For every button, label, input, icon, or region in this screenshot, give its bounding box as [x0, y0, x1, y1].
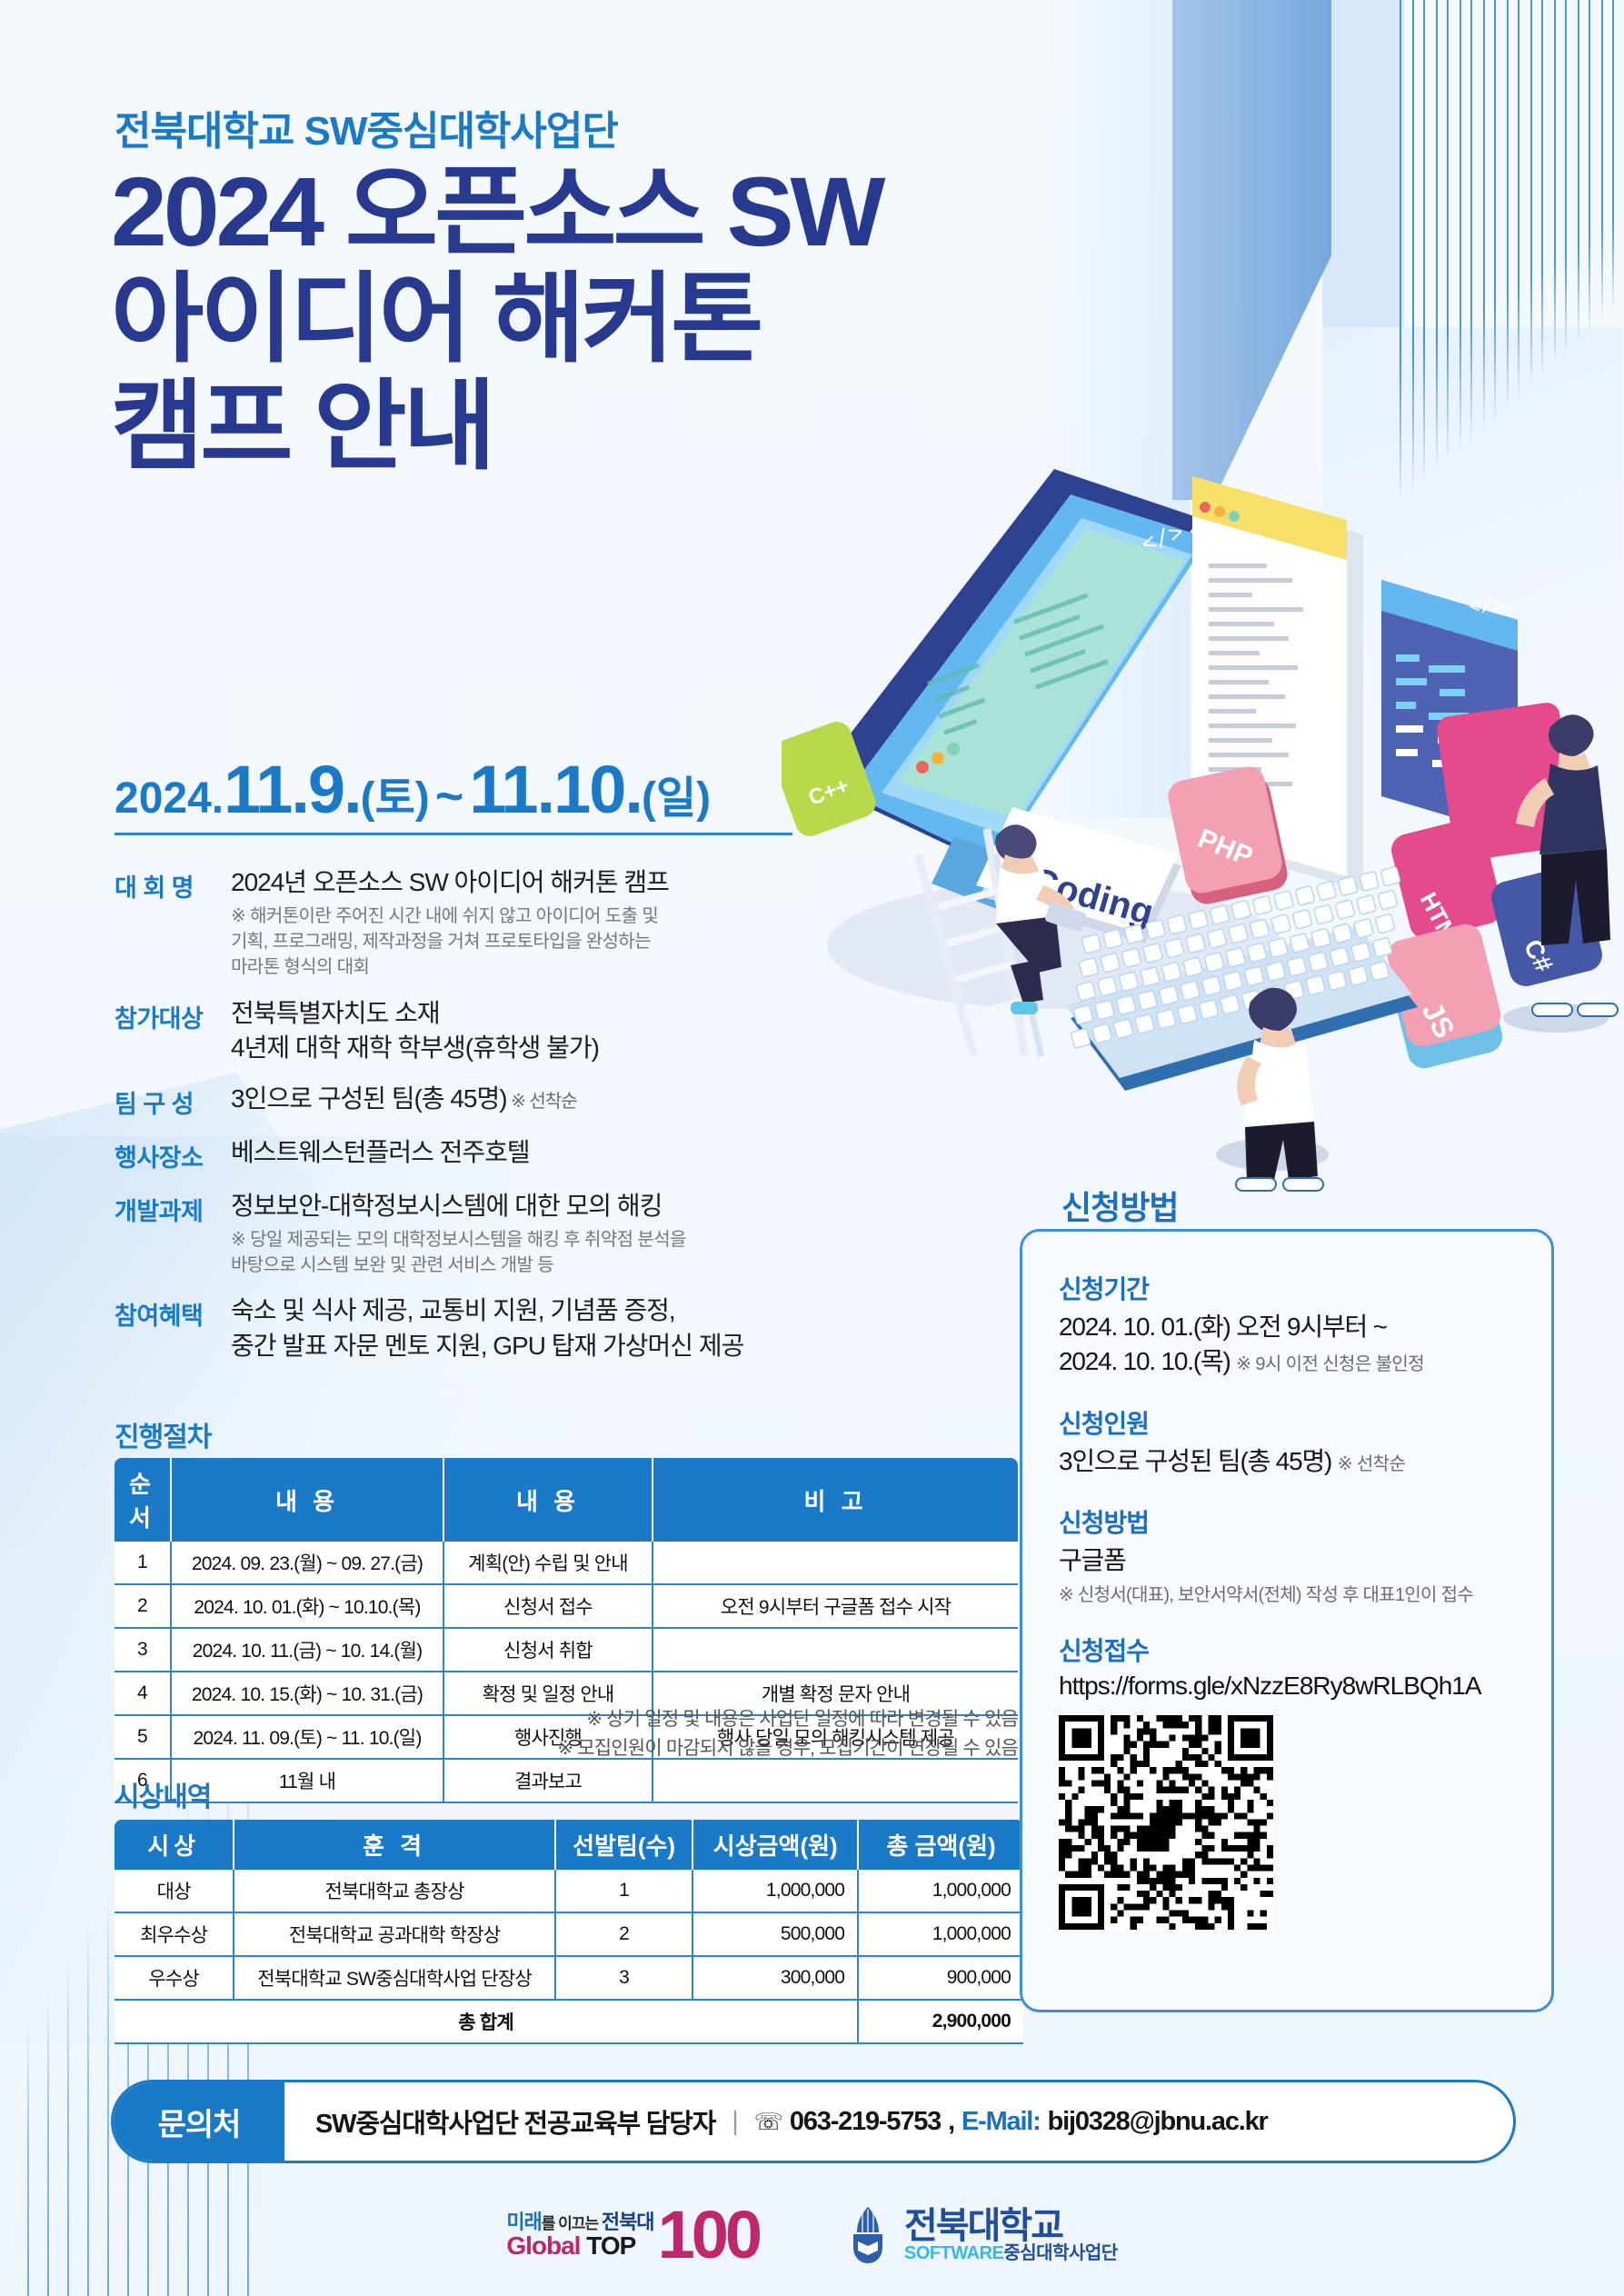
hero-illustration: </>: [782, 382, 1624, 1200]
awards-col-header: 훈 격: [234, 1820, 555, 1870]
info-note: ※ 당일 제공되는 모의 대학정보시스템을 해킹 후 취약점 분석을바탕으로 시…: [231, 1227, 805, 1279]
process-cell: [653, 1759, 1018, 1802]
apply-group-period: 신청기간 2024. 10. 01.(화) 오전 9시부터 ~ 2024. 10…: [1059, 1270, 1515, 1379]
logo-global-c: 이끄는: [558, 2215, 602, 2232]
logo-global-d: 전북대: [602, 2211, 654, 2233]
process-cell: [653, 1542, 1018, 1584]
process-table-header-row: 순서내 용내 용비 고: [115, 1458, 1018, 1542]
process-cell: 3: [115, 1628, 171, 1672]
process-cell: 1: [115, 1542, 171, 1584]
info-body: 2024년 오픈소스 SW 아이디어 해커톤 캠프※ 해커톤이란 주어진 시간 …: [231, 865, 805, 981]
info-body: 전북특별자치도 소재4년제 대학 재학 학부생(휴학생 불가): [231, 996, 805, 1066]
info-label: 참여혜택: [115, 1293, 231, 1363]
process-note-line: ※ 모집인원이 마감되지 않을 경우, 모집기간이 연장될 수 있음: [509, 1734, 1018, 1763]
contact-separator: |: [722, 2107, 746, 2137]
logo-global-line-2: Global TOP: [506, 2232, 653, 2259]
info-body: 숙소 및 식사 제공, 교통비 지원, 기념품 증정,중간 발표 자문 멘토 지…: [231, 1293, 805, 1363]
logo-global-b: 를: [542, 2215, 558, 2232]
logo-global-word: Global: [506, 2231, 580, 2260]
poster-title: 2024 오픈소스 SW 아이디어 해커톤 캠프 안내: [111, 162, 860, 484]
awards-cell: 최우수상: [115, 1912, 234, 1956]
table-row: 611월 내결과보고: [115, 1759, 1018, 1802]
awards-cell: 전북대학교 총장상: [234, 1870, 555, 1912]
title-line-1: 2024 오픈소스 SW: [111, 162, 882, 262]
process-cell: 2024. 09. 23.(월) ~ 09. 27.(금): [171, 1542, 443, 1584]
awards-col-header: 선발팀(수): [555, 1820, 693, 1870]
awards-table: 시상훈 격선발팀(수)시상금액(원)총 금액(원) 대상전북대학교 총장상11,…: [115, 1820, 1023, 2044]
info-row: 참여혜택숙소 및 식사 제공, 교통비 지원, 기념품 증정,중간 발표 자문 …: [115, 1293, 805, 1363]
logo-sw-university: 전북대학교: [904, 2208, 1118, 2244]
contact-email[interactable]: bij0328@jbnu.ac.kr: [1048, 2107, 1268, 2137]
process-cell: 오전 9시부터 구글폼 접수 시작: [653, 1584, 1018, 1628]
date-end: 11.10.: [469, 752, 642, 827]
process-cell: 5: [115, 1715, 171, 1759]
contact-bar: 문의처 SW중심대학사업단 전공교육부 담당자 | ☏ 063-219-5753…: [111, 2080, 1516, 2163]
info-row: 대 회 명2024년 오픈소스 SW 아이디어 해커톤 캠프※ 해커톤이란 주어…: [115, 865, 805, 981]
awards-cell: 대상: [115, 1870, 234, 1912]
date-year: 2024.: [115, 774, 224, 823]
awards-cell: 1,000,000: [692, 1870, 858, 1912]
apply-heading-capacity: 신청인원: [1059, 1404, 1515, 1441]
logo-global-line-1: 미래를 이끄는 전북대: [506, 2211, 653, 2232]
process-notes: ※ 상기 일정 및 내용은 사업단 일정에 따라 변경될 수 있음※ 모집인원이…: [509, 1705, 1018, 1762]
awards-cell: 전북대학교 공과대학 학장상: [234, 1912, 555, 1956]
info-body: 베스트웨스턴플러스 전주호텔: [231, 1135, 805, 1173]
table-row: 우수상전북대학교 SW중심대학사업 단장상3300,000900,000: [115, 1956, 1023, 2000]
title-line-3: 캠프 안내: [111, 376, 882, 476]
info-body: 3인으로 구성된 팀(총 45명) ※ 선착순: [231, 1082, 805, 1120]
logo-jbnu-software: 전북대학교 SOFTWARE중심대학사업단: [846, 2205, 1118, 2265]
table-row: 대상전북대학교 총장상11,000,0001,000,000: [115, 1870, 1023, 1912]
apply-heading-method: 신청방법: [1059, 1503, 1515, 1540]
section-title-process: 진행절차: [115, 1414, 211, 1454]
process-cell: 신청서 접수: [443, 1584, 653, 1628]
logo-sw-subtitle: SOFTWARE중심대학사업단: [904, 2244, 1118, 2262]
awards-cell: 1: [555, 1870, 693, 1912]
awards-cell: 500,000: [692, 1912, 858, 1956]
process-table-body: 12024. 09. 23.(월) ~ 09. 27.(금)계획(안) 수립 및…: [115, 1542, 1018, 1802]
process-cell: 2024. 10. 11.(금) ~ 10. 14.(월): [171, 1628, 443, 1672]
info-label: 참가대상: [115, 996, 231, 1066]
logo-global-top: TOP: [586, 2231, 635, 2260]
date-end-day: (일): [642, 774, 711, 823]
info-row: 팀 구 성3인으로 구성된 팀(총 45명) ※ 선착순: [115, 1082, 805, 1120]
contact-badge: 문의처: [114, 2082, 284, 2161]
apply-capacity-note: ※ 선착순: [1338, 1454, 1406, 1474]
info-main-text: 베스트웨스턴플러스 전주호텔: [231, 1135, 805, 1171]
process-col-header: 비 고: [653, 1458, 1018, 1542]
awards-total-label: 총 합계: [115, 2000, 858, 2043]
phone-icon: ☏: [754, 2108, 782, 2136]
contact-phone[interactable]: 063-219-5753: [790, 2107, 941, 2137]
process-note-line: ※ 상기 일정 및 내용은 사업단 일정에 따라 변경될 수 있음: [509, 1705, 1018, 1734]
title-line-2: 아이디어 해커톤: [111, 269, 882, 369]
process-cell: 계획(안) 수립 및 안내: [443, 1542, 653, 1584]
footer-logos: 미래를 이끄는 전북대 Global TOP 100 전북대학교 SOFTWAR…: [0, 2185, 1624, 2285]
apply-method-note: ※ 신청서(대표), 보안서약서(전체) 작성 후 대표1인이 접수: [1059, 1580, 1515, 1606]
awards-cell: 1,000,000: [858, 1912, 1023, 1956]
info-body: 정보보안-대학정보시스템에 대한 모의 해킹※ 당일 제공되는 모의 대학정보시…: [231, 1189, 805, 1278]
date-start: 11.9.: [224, 752, 361, 827]
awards-cell: 1,000,000: [858, 1870, 1023, 1912]
logo-global-top-100: 미래를 이끄는 전북대 Global TOP 100: [506, 2208, 759, 2263]
apply-capacity-text: 3인으로 구성된 팀(총 45명): [1059, 1447, 1331, 1475]
apply-period-note: ※ 9시 이전 신청은 불인정: [1236, 1354, 1424, 1374]
logo-global-number: 100: [658, 2208, 759, 2263]
process-cell: 신청서 취합: [443, 1628, 653, 1672]
process-cell: [653, 1628, 1018, 1672]
logo-sw-rest: 중심대학사업단: [1003, 2243, 1117, 2263]
process-col-header: 내 용: [443, 1458, 653, 1542]
apply-period-line-1: 2024. 10. 01.(화) 오전 9시부터 ~: [1059, 1310, 1515, 1344]
contact-details: SW중심대학사업단 전공교육부 담당자 | ☏ 063-219-5753, E-…: [284, 2102, 1513, 2141]
info-main-text: 숙소 및 식사 제공, 교통비 지원, 기념품 증정,중간 발표 자문 멘토 지…: [231, 1293, 805, 1363]
info-row: 참가대상전북특별자치도 소재4년제 대학 재학 학부생(휴학생 불가): [115, 996, 805, 1066]
apply-period-line-2: 2024. 10. 10.(목) ※ 9시 이전 신청은 불인정: [1059, 1344, 1515, 1379]
awards-table-body: 대상전북대학교 총장상11,000,0001,000,000최우수상전북대학교 …: [115, 1870, 1023, 2043]
awards-cell: 전북대학교 SW중심대학사업 단장상: [234, 1956, 555, 2000]
info-main-text: 정보보안-대학정보시스템에 대한 모의 해킹: [231, 1189, 805, 1224]
header-divider: [115, 833, 792, 835]
awards-cell: 900,000: [858, 1956, 1023, 2000]
event-date: 2024.11.9.(토)~11.10.(일): [115, 751, 711, 828]
awards-cell: 300,000: [692, 1956, 858, 2000]
university-crest-icon: [846, 2205, 890, 2265]
process-col-header: 순서: [115, 1458, 171, 1542]
awards-col-header: 총 금액(원): [858, 1820, 1023, 1870]
info-row: 개발과제정보보안-대학정보시스템에 대한 모의 해킹※ 당일 제공되는 모의 대…: [115, 1189, 805, 1278]
qr-code[interactable]: [1059, 1715, 1273, 1930]
apply-card: 신청기간 2024. 10. 01.(화) 오전 9시부터 ~ 2024. 10…: [1020, 1229, 1554, 2012]
info-label: 팀 구 성: [115, 1082, 231, 1120]
apply-heading-submit: 신청접수: [1059, 1632, 1515, 1668]
logo-global-text: 미래를 이끄는 전북대 Global TOP: [506, 2211, 653, 2259]
apply-heading-period: 신청기간: [1059, 1270, 1515, 1306]
apply-group-submit: 신청접수 https://forms.gle/xNzzE8Ry8wRLBQh1A: [1059, 1632, 1515, 1930]
process-cell: 2024. 10. 15.(화) ~ 10. 31.(금): [171, 1672, 443, 1715]
contact-dept: SW중심대학사업단 전공교육부 담당자: [315, 2102, 715, 2141]
awards-col-header: 시상: [115, 1820, 234, 1870]
apply-group-capacity: 신청인원 3인으로 구성된 팀(총 45명) ※ 선착순: [1059, 1404, 1515, 1479]
info-main-text: 3인으로 구성된 팀(총 45명) ※ 선착순: [231, 1082, 805, 1117]
logo-sw-software: SOFTWARE: [904, 2243, 1003, 2263]
qr-code-svg: [1059, 1715, 1273, 1930]
process-cell: 2024. 10. 01.(화) ~ 10.10.(목): [171, 1584, 443, 1628]
awards-table-header-row: 시상훈 격선발팀(수)시상금액(원)총 금액(원): [115, 1820, 1023, 1870]
apply-period-end: 2024. 10. 10.(목): [1059, 1347, 1230, 1375]
process-col-header: 내 용: [171, 1458, 443, 1542]
organization-kicker: 전북대학교 SW중심대학사업단: [115, 98, 618, 156]
awards-total-value: 2,900,000: [858, 2000, 1023, 2043]
apply-form-url[interactable]: https://forms.gle/xNzzE8Ry8wRLBQh1A: [1059, 1672, 1515, 1701]
process-cell: 2: [115, 1584, 171, 1628]
awards-col-header: 시상금액(원): [692, 1820, 858, 1870]
process-cell: 4: [115, 1672, 171, 1715]
table-row: 12024. 09. 23.(월) ~ 09. 27.(금)계획(안) 수립 및…: [115, 1542, 1018, 1584]
info-main-text: 전북특별자치도 소재4년제 대학 재학 학부생(휴학생 불가): [231, 996, 805, 1066]
date-tilde: ~: [430, 769, 470, 824]
contact-mail-label: E-Mail:: [961, 2107, 1041, 2137]
logo-global-a: 미래: [506, 2211, 541, 2233]
table-row: 32024. 10. 11.(금) ~ 10. 14.(월)신청서 취합: [115, 1628, 1018, 1672]
table-row: 22024. 10. 01.(화) ~ 10.10.(목)신청서 접수오전 9시…: [115, 1584, 1018, 1628]
process-cell: 결과보고: [443, 1759, 653, 1802]
date-start-day: (토): [361, 774, 430, 823]
info-label: 대 회 명: [115, 865, 231, 981]
table-row: 최우수상전북대학교 공과대학 학장상2500,0001,000,000: [115, 1912, 1023, 1956]
illustration-svg: </>: [782, 382, 1624, 1200]
info-label: 개발과제: [115, 1189, 231, 1278]
awards-cell: 3: [555, 1956, 693, 2000]
awards-total-row: 총 합계2,900,000: [115, 2000, 1023, 2043]
awards-cell: 우수상: [115, 1956, 234, 2000]
code-icon-2: </>: [1469, 596, 1505, 619]
apply-group-method: 신청방법 구글폼 ※ 신청서(대표), 보안서약서(전체) 작성 후 대표1인이…: [1059, 1503, 1515, 1606]
awards-cell: 2: [555, 1912, 693, 1956]
process-cell: 2024. 11. 09.(토) ~ 11. 10.(일): [171, 1715, 443, 1759]
info-main-note: ※ 선착순: [507, 1092, 577, 1112]
info-label: 행사장소: [115, 1135, 231, 1173]
apply-method-value: 구글폼: [1059, 1543, 1515, 1578]
info-row: 행사장소베스트웨스턴플러스 전주호텔: [115, 1135, 805, 1173]
info-main-text: 2024년 오픈소스 SW 아이디어 해커톤 캠프: [231, 865, 805, 901]
event-info-list: 대 회 명2024년 오픈소스 SW 아이디어 해커톤 캠프※ 해커톤이란 주어…: [115, 865, 805, 1380]
apply-capacity-line: 3인으로 구성된 팀(총 45명) ※ 선착순: [1059, 1444, 1515, 1479]
logo-sw-text: 전북대학교 SOFTWARE중심대학사업단: [904, 2208, 1118, 2262]
process-cell: 11월 내: [171, 1759, 443, 1802]
section-title-awards: 시상내역: [115, 1774, 211, 1814]
info-note: ※ 해커톤이란 주어진 시간 내에 쉬지 않고 아이디어 도출 및기획, 프로그…: [231, 903, 805, 981]
